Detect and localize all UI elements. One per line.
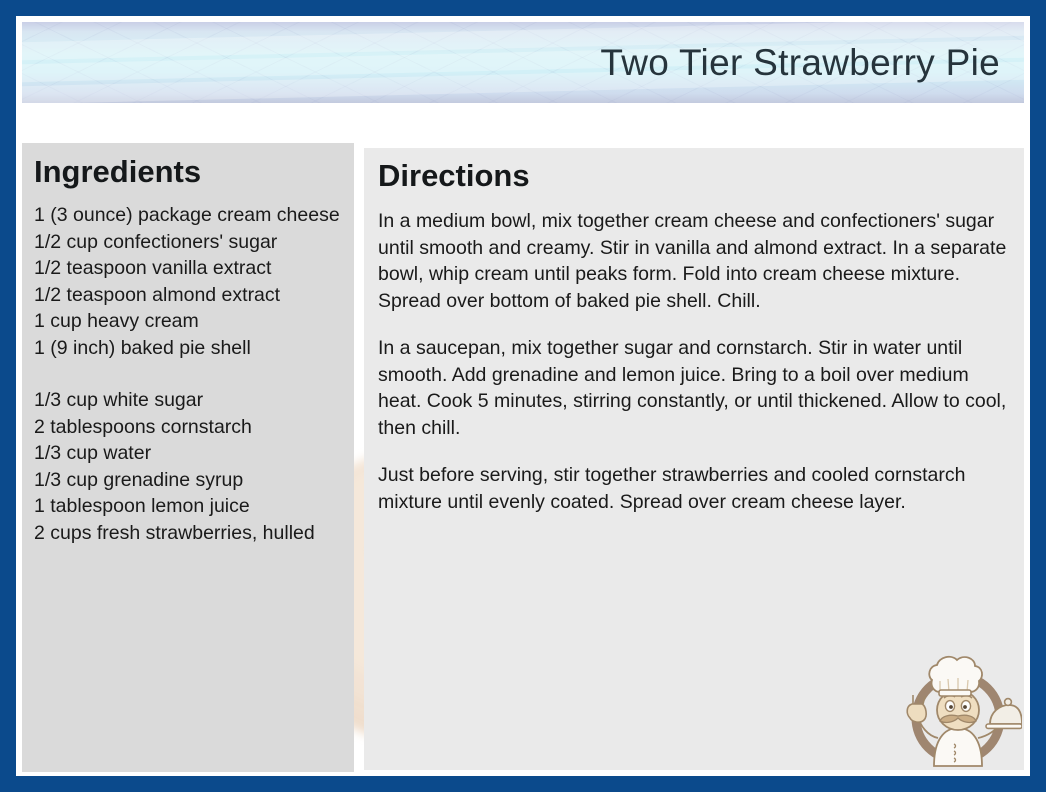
recipe-card: Two Tier Strawberry Pie	[0, 0, 1046, 792]
ingredients-list: 1 (3 ounce) package cream cheese 1/2 cup…	[34, 202, 344, 546]
ingredients-panel: Ingredients 1 (3 ounce) package cream ch…	[22, 118, 354, 772]
chef-logo	[894, 648, 1022, 772]
list-separator	[34, 361, 344, 387]
direction-step: In a saucepan, mix together sugar and co…	[378, 335, 1016, 441]
ingredients-heading: Ingredients	[22, 144, 223, 197]
title-banner: Two Tier Strawberry Pie	[22, 22, 1024, 103]
list-item: 1 (3 ounce) package cream cheese	[34, 202, 344, 229]
chef-jacket	[934, 728, 982, 766]
directions-steps: In a medium bowl, mix together cream che…	[378, 208, 1016, 536]
list-item: 1/3 cup grenadine syrup	[34, 467, 344, 494]
list-item: 2 tablespoons cornstarch	[34, 414, 344, 441]
list-item: 1/3 cup water	[34, 440, 344, 467]
directions-heading: Directions	[364, 148, 552, 201]
list-item: 1/2 teaspoon vanilla extract	[34, 255, 344, 282]
list-item: 1 (9 inch) baked pie shell	[34, 335, 344, 362]
list-item: 1 tablespoon lemon juice	[34, 493, 344, 520]
page-inner: Two Tier Strawberry Pie	[16, 16, 1030, 776]
cloche-icon	[986, 699, 1022, 729]
list-item: 1/2 teaspoon almond extract	[34, 282, 344, 309]
list-item: 1 cup heavy cream	[34, 308, 344, 335]
list-item: 1/2 cup confectioners' sugar	[34, 229, 344, 256]
direction-step: Just before serving, stir together straw…	[378, 462, 1016, 515]
direction-step: In a medium bowl, mix together cream che…	[378, 208, 1016, 314]
chef-hat-icon	[929, 657, 982, 696]
list-item: 2 cups fresh strawberries, hulled	[34, 520, 344, 547]
page-title: Two Tier Strawberry Pie	[600, 42, 1000, 84]
list-item: 1/3 cup white sugar	[34, 387, 344, 414]
